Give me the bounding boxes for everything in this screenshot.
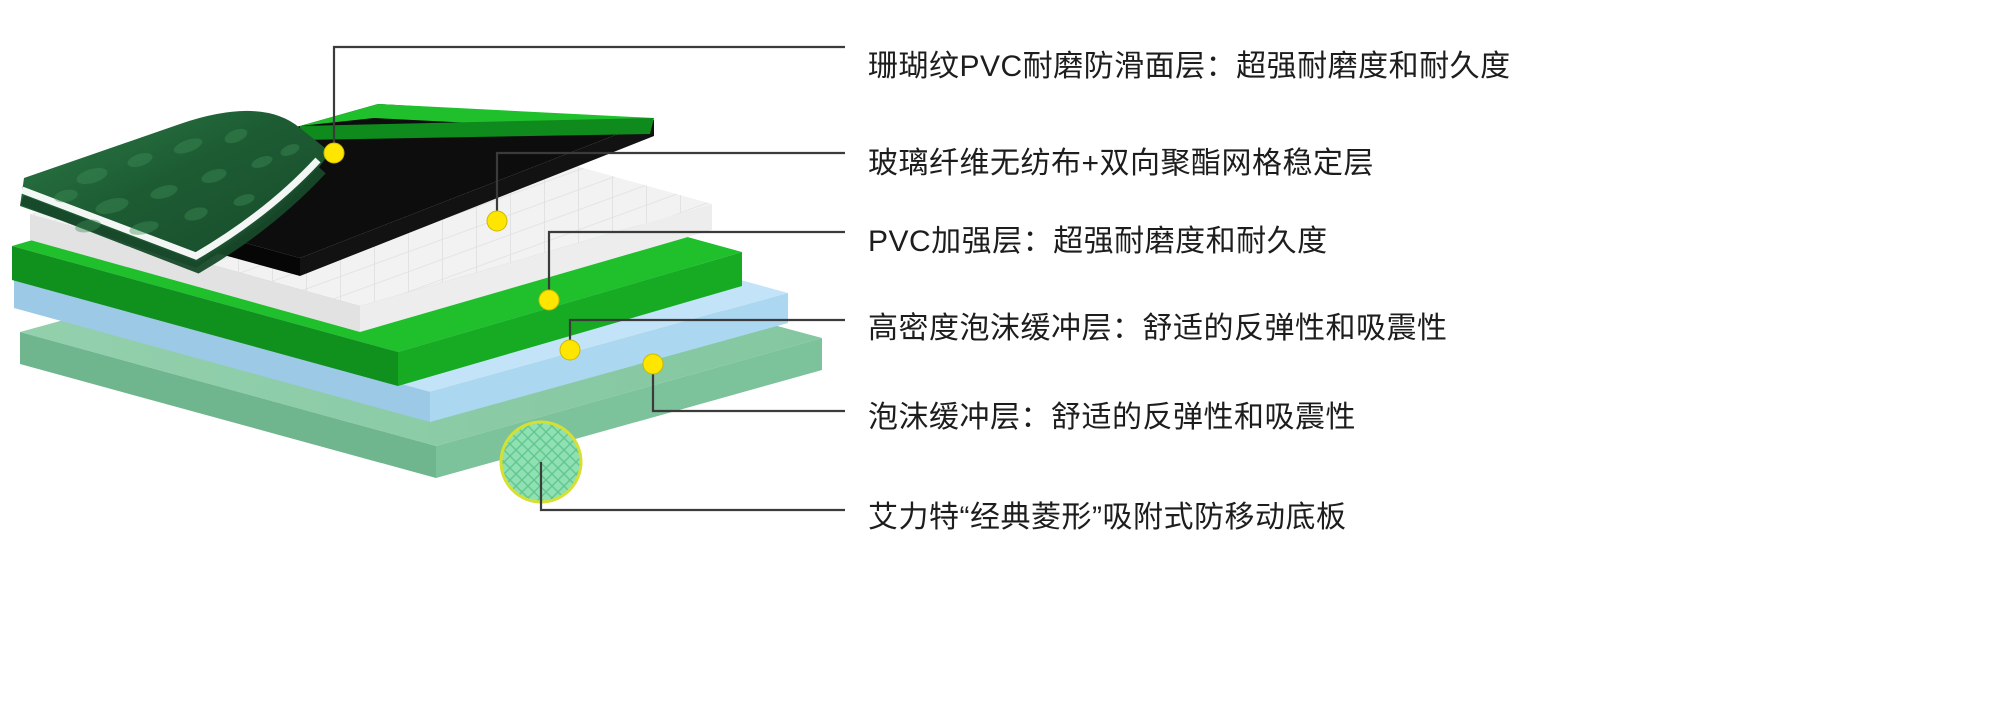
diagram-canvas: 珊瑚纹PVC耐磨防滑面层：超强耐磨度和耐久度 玻璃纤维无纺布+双向聚酯网格稳定层…: [0, 0, 2000, 721]
label-layer-4: 高密度泡沫缓冲层：舒适的反弹性和吸震性: [868, 303, 1448, 347]
marker-layer-5: [643, 354, 663, 374]
marker-layer-3: [539, 290, 559, 310]
label-layer-3: PVC加强层：超强耐磨度和耐久度: [868, 216, 1328, 260]
label-layer-5: 泡沫缓冲层：舒适的反弹性和吸震性: [868, 392, 1356, 436]
label-layer-1: 珊瑚纹PVC耐磨防滑面层：超强耐磨度和耐久度: [868, 41, 1511, 85]
flooring-layer-illustration: [0, 0, 2000, 721]
label-layer-2: 玻璃纤维无纺布+双向聚酯网格稳定层: [868, 138, 1374, 182]
marker-layer-2: [487, 211, 507, 231]
label-layer-6: 艾力特“经典菱形”吸附式防移动底板: [868, 492, 1346, 536]
marker-layer-4: [560, 340, 580, 360]
leader-line-layer-6: [541, 462, 845, 510]
marker-layer-1: [324, 143, 344, 163]
